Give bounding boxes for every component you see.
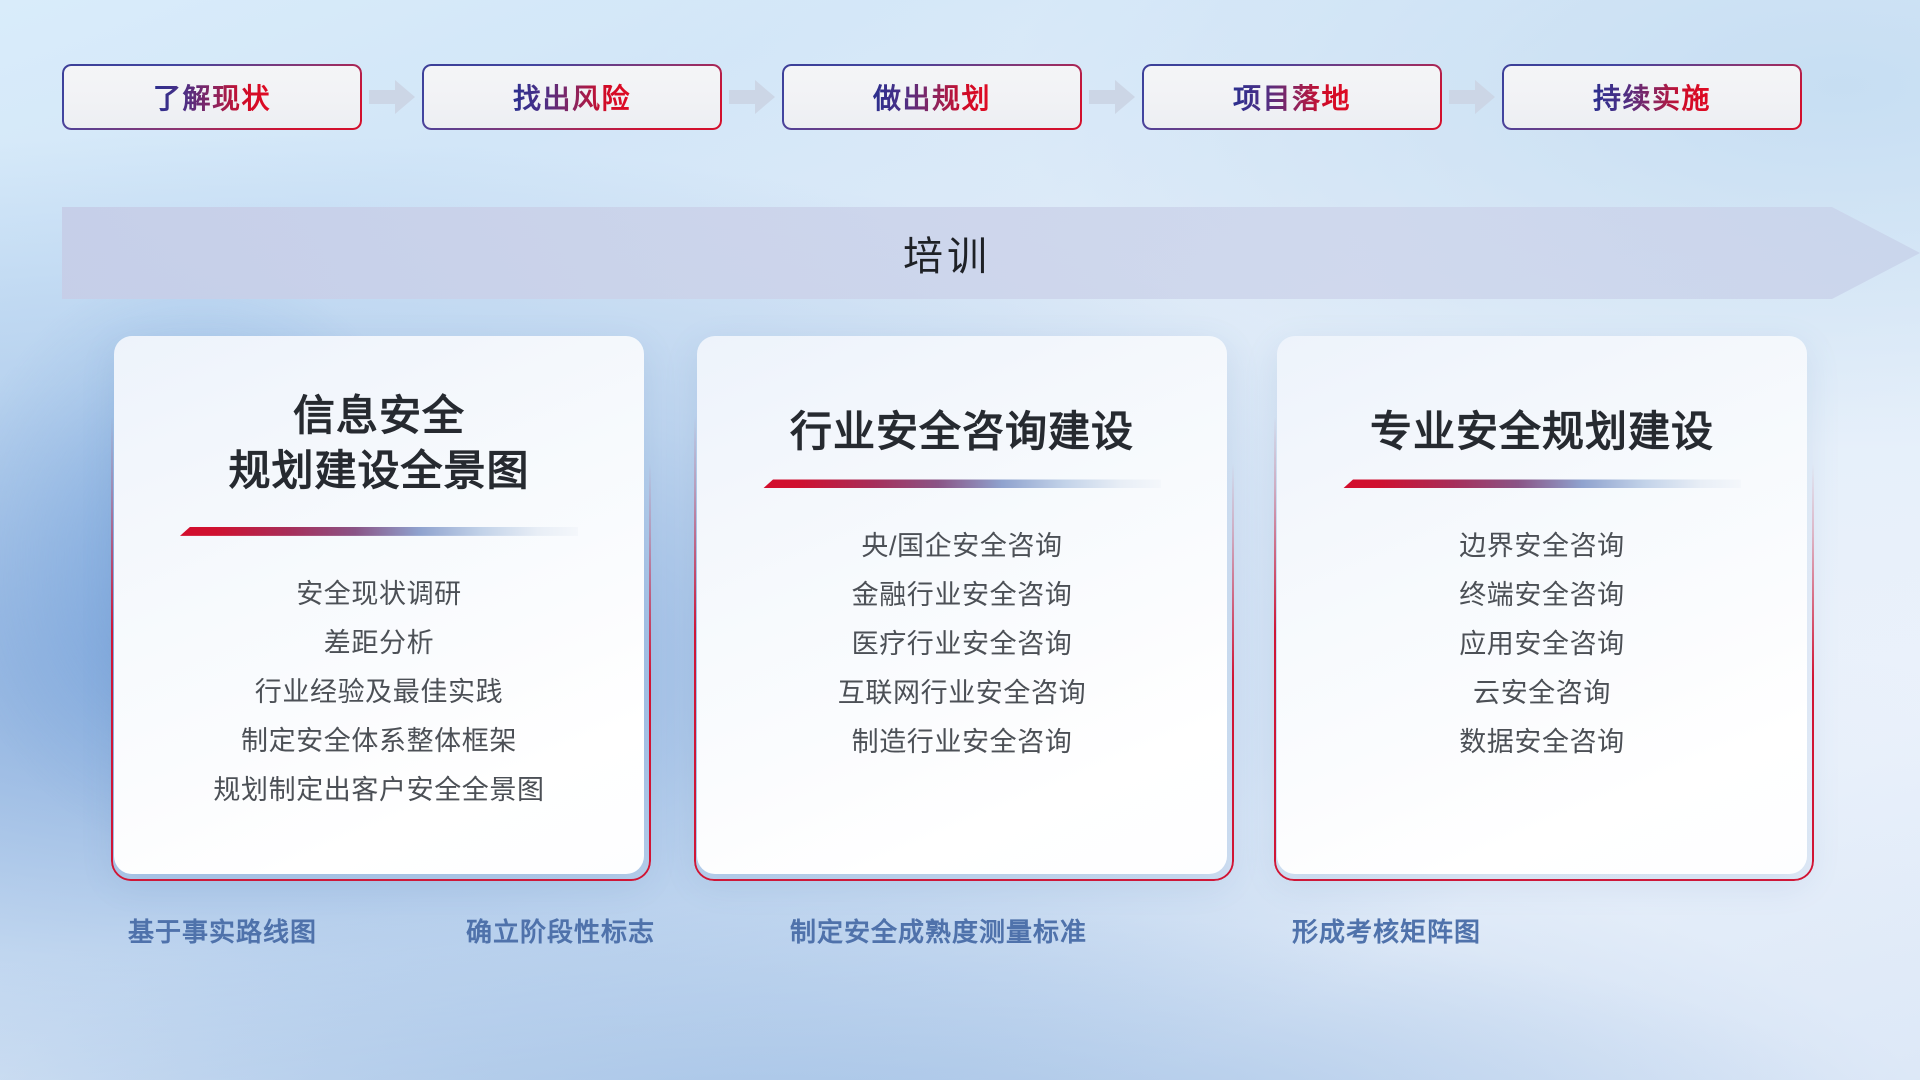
list-item: 行业经验及最佳实践	[255, 668, 503, 717]
list-item: 规划制定出客户安全全景图	[213, 766, 544, 815]
list-item: 应用安全咨询	[1459, 620, 1625, 669]
card-title: 信息安全 规划建设全景图	[228, 388, 529, 499]
caption-0: 基于事实路线图	[128, 912, 317, 949]
card-divider	[180, 527, 578, 536]
arrow-right-icon	[362, 75, 422, 119]
caption-row: 基于事实路线图 确立阶段性标志 制定安全成熟度测量标准 形成考核矩阵图	[0, 912, 1920, 964]
caption-3: 形成考核矩阵图	[1292, 912, 1481, 949]
slide-canvas: 了解现状 找出风险 做出规划 项目落地	[0, 0, 1920, 1080]
card-body: 信息安全 规划建设全景图 安全现状调研 差距分析 行业经验及最佳实践 制定安全体…	[114, 336, 644, 874]
card-body: 专业安全规划建设 边界安全咨询 终端安全咨询 应用安全咨询 云安全咨询 数据安全…	[1277, 336, 1807, 874]
list-item: 央/国企安全咨询	[861, 522, 1062, 571]
list-item: 金融行业安全咨询	[852, 571, 1073, 620]
arrow-right-icon	[1082, 75, 1142, 119]
list-item: 差距分析	[324, 619, 434, 668]
step-label-3: 项目落地	[1233, 77, 1351, 117]
step-item-1[interactable]: 找出风险	[422, 64, 722, 130]
card-list: 安全现状调研 差距分析 行业经验及最佳实践 制定安全体系整体框架 规划制定出客户…	[213, 570, 544, 815]
caption-1: 确立阶段性标志	[466, 912, 655, 949]
step-item-2[interactable]: 做出规划	[782, 64, 1082, 130]
step-item-4[interactable]: 持续实施	[1502, 64, 1802, 130]
list-item: 数据安全咨询	[1459, 718, 1625, 767]
step-item-0[interactable]: 了解现状	[62, 64, 362, 130]
step-label-1: 找出风险	[513, 77, 631, 117]
list-item: 制造行业安全咨询	[852, 718, 1073, 767]
step-label-0: 了解现状	[153, 77, 271, 117]
step-label-2: 做出规划	[873, 77, 991, 117]
card-professional-security-planning[interactable]: 专业安全规划建设 边界安全咨询 终端安全咨询 应用安全咨询 云安全咨询 数据安全…	[1277, 336, 1807, 874]
caption-2: 制定安全成熟度测量标准	[790, 912, 1087, 949]
list-item: 边界安全咨询	[1459, 522, 1625, 571]
list-item: 制定安全体系整体框架	[241, 717, 517, 766]
card-title: 专业安全规划建设	[1370, 404, 1714, 459]
step-flow: 了解现状 找出风险 做出规划 项目落地	[62, 63, 1862, 131]
card-title: 行业安全咨询建设	[790, 404, 1134, 459]
list-item: 安全现状调研	[296, 570, 462, 619]
list-item: 终端安全咨询	[1459, 571, 1625, 620]
list-item: 互联网行业安全咨询	[838, 669, 1086, 718]
card-body: 行业安全咨询建设 央/国企安全咨询 金融行业安全咨询 医疗行业安全咨询 互联网行…	[697, 336, 1227, 874]
card-industry-security-consulting[interactable]: 行业安全咨询建设 央/国企安全咨询 金融行业安全咨询 医疗行业安全咨询 互联网行…	[697, 336, 1227, 874]
card-list: 边界安全咨询 终端安全咨询 应用安全咨询 云安全咨询 数据安全咨询	[1459, 522, 1625, 767]
step-item-3[interactable]: 项目落地	[1142, 64, 1442, 130]
training-banner: 培训	[62, 207, 1920, 299]
list-item: 医疗行业安全咨询	[852, 620, 1073, 669]
list-item: 云安全咨询	[1473, 669, 1611, 718]
arrow-right-icon	[722, 75, 782, 119]
card-divider	[1343, 479, 1741, 488]
card-divider	[763, 479, 1161, 488]
card-list: 央/国企安全咨询 金融行业安全咨询 医疗行业安全咨询 互联网行业安全咨询 制造行…	[838, 522, 1086, 767]
arrow-right-icon	[1442, 75, 1502, 119]
banner-title: 培训	[62, 207, 1920, 299]
card-row: 信息安全 规划建设全景图 安全现状调研 差距分析 行业经验及最佳实践 制定安全体…	[0, 336, 1920, 876]
step-label-4: 持续实施	[1593, 77, 1711, 117]
card-info-security-blueprint[interactable]: 信息安全 规划建设全景图 安全现状调研 差距分析 行业经验及最佳实践 制定安全体…	[114, 336, 644, 874]
